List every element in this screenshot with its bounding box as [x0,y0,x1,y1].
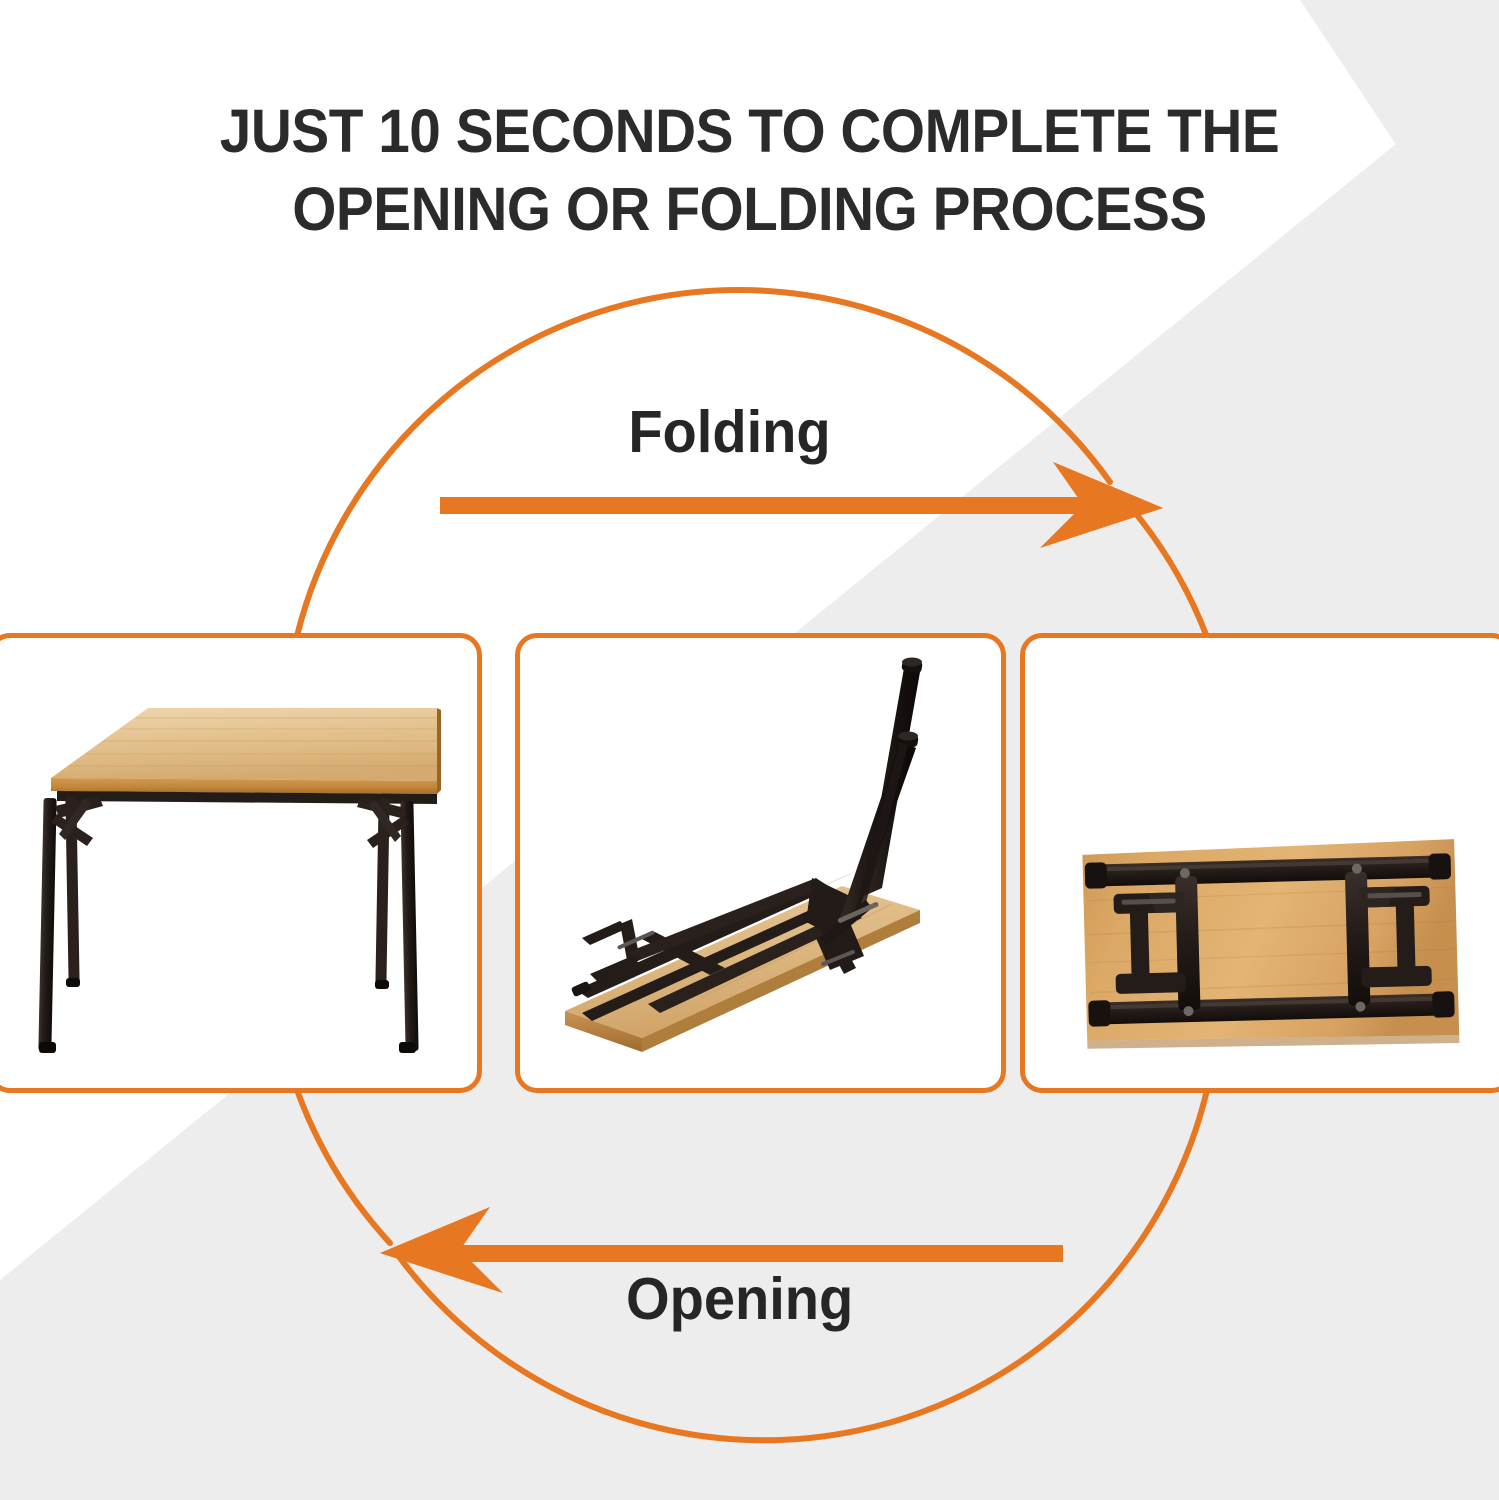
folding-arrow-shaft [440,497,1085,514]
foot-back-left [66,978,80,987]
folded-leg-left-lower [1116,972,1186,994]
opening-step-label: Opening [626,1265,853,1333]
infographic-canvas: JUST 10 SECONDS TO COMPLETE THE OPENING … [0,0,1499,1500]
product-panel-assembled[interactable] [0,633,482,1093]
folded-leg-right-vert [1396,896,1416,978]
tabletop-edge-right [437,708,441,794]
table-folded-illustration [1025,638,1499,1088]
folded-leg-right-lower [1361,966,1431,988]
page-title: JUST 10 SECONDS TO COMPLETE THE OPENING … [52,92,1446,248]
rail-end-cap-br [1432,991,1455,1018]
rail-end-cap-tr [1428,853,1451,880]
table-assembled-illustration [0,638,477,1088]
foot-front-left [39,1042,56,1053]
foot-front-right [399,1042,416,1053]
cycle-arc-bottom-left [297,1090,390,1243]
tabletop-surface [51,708,437,781]
rail-end-cap-tl [1085,862,1108,889]
product-panel-folded[interactable] [1020,633,1499,1093]
raised-leg-rear-glide [902,658,922,667]
folding-step-label: Folding [628,398,830,466]
table-half-folded-illustration [520,638,1001,1088]
opening-arrow-shaft [418,1245,1063,1262]
raised-leg-front-glide [898,732,918,741]
folded-leg-left-vert [1130,903,1150,985]
rail-end-cap-bl [1088,1000,1111,1027]
foot-back-right [375,980,389,989]
leg-front-right [400,801,418,1051]
leg-front-left [38,798,56,1051]
product-panel-half-folded[interactable] [515,633,1006,1093]
